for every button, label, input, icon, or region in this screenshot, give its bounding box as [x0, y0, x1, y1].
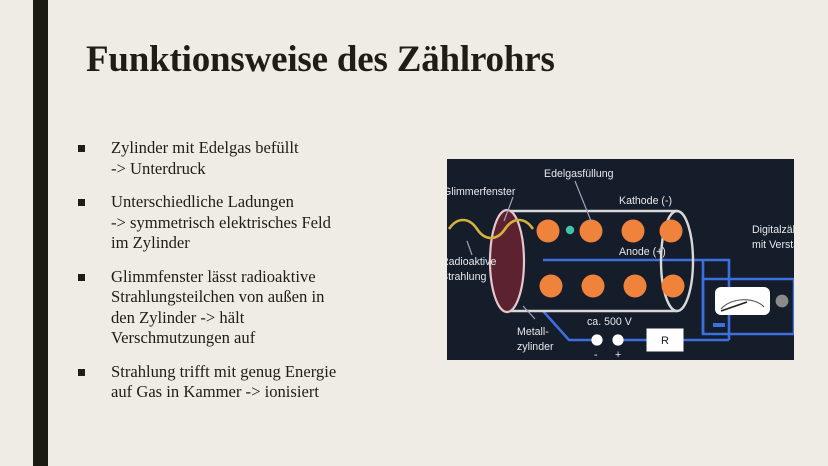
label-digital-counter-2: mit Verstärker — [752, 239, 794, 251]
bullet-square-icon — [78, 145, 85, 152]
geiger-counter-diagram: Glimmerfenster Radioaktive Strahlung Ede… — [447, 159, 794, 360]
bullet-line: Strahlung trifft mit genug Energie — [111, 362, 424, 383]
label-terminal-minus: - — [594, 349, 598, 360]
bullet-square-icon — [78, 369, 85, 376]
bullet-line: Glimmfenster lässt radioaktive — [111, 267, 424, 288]
bullet-line: Unterschiedliche Ladungen — [111, 192, 424, 213]
label-kathode: Kathode (-) — [619, 195, 672, 207]
label-resistor: R — [661, 335, 669, 347]
bullet-square-icon — [78, 199, 85, 206]
label-metallzylinder-1: Metall- — [517, 326, 549, 338]
bullet-line: im Zylinder — [111, 233, 424, 254]
page-title: Funktionsweise des Zählrohrs — [86, 38, 746, 82]
bullet-line: Zylinder mit Edelgas befüllt — [111, 138, 424, 159]
label-metallzylinder-2: zylinder — [517, 341, 554, 353]
bullet-list: Zylinder mit Edelgas befüllt -> Unterdru… — [74, 138, 424, 416]
label-anode: Anode (+) — [619, 246, 666, 258]
slide-root: Funktionsweise des Zählrohrs Zylinder mi… — [0, 0, 828, 466]
label-digital-counter-1: Digitalzähler — [752, 224, 794, 236]
label-terminal-plus: + — [615, 349, 621, 360]
bullet-line: auf Gas in Kammer -> ionisiert — [111, 382, 424, 403]
bullet-line: -> Unterdruck — [111, 159, 424, 180]
list-item: Strahlung trifft mit genug Energie auf G… — [74, 362, 424, 403]
bullet-line: Strahlungsteilchen von außen in — [111, 287, 424, 308]
label-glimmerfenster: Glimmerfenster — [447, 186, 516, 198]
detector-knob-icon[interactable] — [776, 295, 789, 308]
bullet-line: den Zylinder -> hält — [111, 308, 424, 329]
label-voltage: ca. 500 V — [587, 316, 633, 328]
left-accent-bar — [33, 0, 48, 466]
list-item: Zylinder mit Edelgas befüllt -> Unterdru… — [74, 138, 424, 179]
label-edelgasfuellung: Edelgasfüllung — [544, 168, 614, 180]
bullet-line: -> symmetrisch elektrisches Feld — [111, 213, 424, 234]
label-radioaktive-strahlung-1: Radioaktive — [447, 256, 496, 268]
analog-meter — [715, 287, 770, 315]
bullet-square-icon — [78, 274, 85, 281]
bullet-line: Verschmutzungen auf — [111, 328, 424, 349]
label-radioaktive-strahlung-2: Strahlung — [447, 271, 486, 283]
list-item: Unterschiedliche Ladungen -> symmetrisch… — [74, 192, 424, 254]
list-item: Glimmfenster lässt radioaktive Strahlung… — [74, 267, 424, 349]
detector-indicator — [713, 323, 725, 327]
electron-dot — [566, 226, 574, 234]
